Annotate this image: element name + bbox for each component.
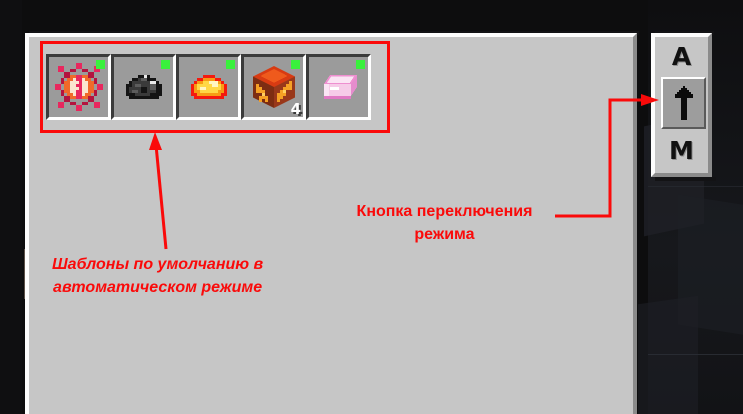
- left-dark-margin: [0, 0, 22, 414]
- annotation-templates-line-1: Шаблоны по умолчанию в: [52, 253, 263, 276]
- slot-count: 4: [291, 102, 301, 117]
- mode-toggle-button[interactable]: [661, 77, 706, 129]
- mode-panel-shadow-bottom: [655, 177, 716, 181]
- slot-indicator-dot: [291, 60, 300, 69]
- mode-toggle-panel: A M: [651, 33, 712, 177]
- annotation-templates-line-2: автоматическом режиме: [52, 276, 263, 299]
- annotation-mode-line-1: Кнопка переключения: [342, 200, 547, 223]
- mode-label-auto: A: [655, 44, 708, 69]
- templates-highlight-box: [40, 41, 390, 133]
- slot-indicator-dot: [226, 60, 235, 69]
- screenshot-root: 4: [0, 0, 743, 414]
- annotation-mode-line-2: режима: [342, 223, 547, 246]
- annotation-templates: Шаблоны по умолчанию в автоматическом ре…: [52, 253, 263, 299]
- world-edge-line: [648, 354, 743, 355]
- slot-indicator-dot: [161, 60, 170, 69]
- arrow-up-icon: [673, 86, 695, 120]
- mode-label-manual: M: [655, 138, 708, 163]
- annotation-mode: Кнопка переключения режима: [342, 200, 547, 246]
- slot-indicator-dot: [96, 60, 105, 69]
- world-edge-line: [648, 186, 743, 187]
- slot-indicator-dot: [356, 60, 365, 69]
